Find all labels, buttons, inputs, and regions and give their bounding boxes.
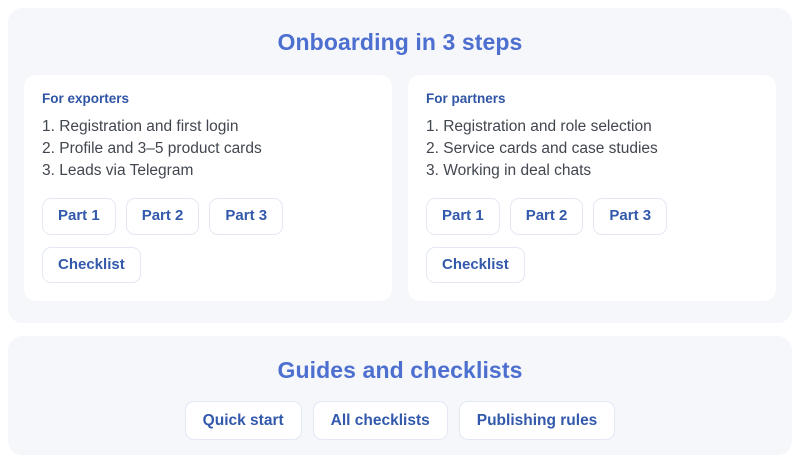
exporters-checklist-button[interactable]: Checklist [42, 247, 141, 284]
partners-part-buttons: Part 1 Part 2 Part 3 [426, 198, 758, 235]
partners-checklist-row: Checklist [426, 247, 758, 284]
list-item: 3. Working in deal chats [426, 160, 758, 182]
list-item: 1. Registration and role selection [426, 116, 758, 138]
card-for-exporters: For exporters 1. Registration and first … [24, 75, 392, 301]
exporters-part-3-button[interactable]: Part 3 [209, 198, 283, 235]
guides-buttons-row: Quick start All checklists Publishing ru… [16, 401, 784, 440]
partners-part-2-button[interactable]: Part 2 [510, 198, 584, 235]
list-item: 2. Profile and 3–5 product cards [42, 138, 374, 160]
steps-list-exporters: 1. Registration and first login 2. Profi… [42, 116, 374, 182]
exporters-checklist-row: Checklist [42, 247, 374, 284]
steps-list-partners: 1. Registration and role selection 2. Se… [426, 116, 758, 182]
onboarding-title: Onboarding in 3 steps [16, 30, 784, 55]
all-checklists-button[interactable]: All checklists [313, 401, 448, 440]
card-for-partners: For partners 1. Registration and role se… [408, 75, 776, 301]
exporters-part-2-button[interactable]: Part 2 [126, 198, 200, 235]
list-item: 1. Registration and first login [42, 116, 374, 138]
card-title-partners: For partners [426, 91, 758, 107]
card-title-exporters: For exporters [42, 91, 374, 107]
guides-panel: Guides and checklists Quick start All ch… [8, 336, 792, 455]
partners-part-1-button[interactable]: Part 1 [426, 198, 500, 235]
exporters-part-buttons: Part 1 Part 2 Part 3 [42, 198, 374, 235]
list-item: 3. Leads via Telegram [42, 160, 374, 182]
onboarding-panel: Onboarding in 3 steps For exporters 1. R… [8, 8, 792, 323]
partners-checklist-button[interactable]: Checklist [426, 247, 525, 284]
publishing-rules-button[interactable]: Publishing rules [459, 401, 616, 440]
partners-part-3-button[interactable]: Part 3 [593, 198, 667, 235]
page-root: Onboarding in 3 steps For exporters 1. R… [0, 0, 800, 463]
guides-title: Guides and checklists [16, 358, 784, 383]
list-item: 2. Service cards and case studies [426, 138, 758, 160]
quick-start-button[interactable]: Quick start [185, 401, 302, 440]
onboarding-cards-row: For exporters 1. Registration and first … [16, 75, 784, 301]
exporters-part-1-button[interactable]: Part 1 [42, 198, 116, 235]
